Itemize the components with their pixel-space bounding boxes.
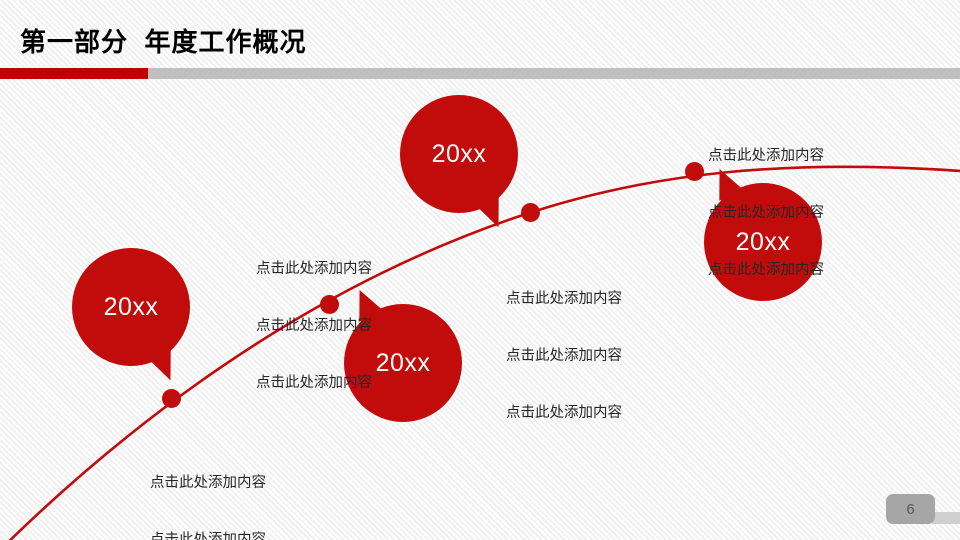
text-line: 点击此处添加内容 <box>708 204 878 223</box>
timeline-node-3[interactable] <box>521 203 540 222</box>
timeline-node-1[interactable] <box>162 389 181 408</box>
page-number-badge: 6 <box>886 494 935 524</box>
year-bubble-2[interactable]: 20xx <box>400 95 518 213</box>
text-block-1[interactable]: 点击此处添加内容 点击此处添加内容 点击此处添加内容 <box>212 222 372 431</box>
bubble-year-label: 20xx <box>400 95 518 213</box>
text-line: 点击此处添加内容 <box>462 404 622 423</box>
text-line: 点击此处添加内容 <box>462 347 622 366</box>
text-block-4[interactable]: 点击此处添加内容 点击此处添加内容 点击此处添加内容 <box>106 436 266 540</box>
text-line: 点击此处添加内容 <box>106 474 266 493</box>
page-badge-extension <box>932 512 960 524</box>
bubble-year-label: 20xx <box>72 248 190 366</box>
text-line: 点击此处添加内容 <box>212 317 372 336</box>
text-block-2[interactable]: 点击此处添加内容 点击此处添加内容 点击此处添加内容 <box>462 252 622 461</box>
text-line: 点击此处添加内容 <box>212 260 372 279</box>
slide-canvas: 第一部分 年度工作概况 20xx 20xx 20xx 20xx 点击此处添加内容… <box>0 0 960 540</box>
text-line: 点击此处添加内容 <box>212 374 372 393</box>
year-bubble-1[interactable]: 20xx <box>72 248 190 366</box>
text-line: 点击此处添加内容 <box>106 531 266 540</box>
text-line: 点击此处添加内容 <box>462 290 622 309</box>
text-block-3[interactable]: 点击此处添加内容 点击此处添加内容 点击此处添加内容 <box>708 109 878 318</box>
text-line: 点击此处添加内容 <box>708 147 878 166</box>
timeline-node-4[interactable] <box>685 162 704 181</box>
text-line: 点击此处添加内容 <box>708 261 878 280</box>
